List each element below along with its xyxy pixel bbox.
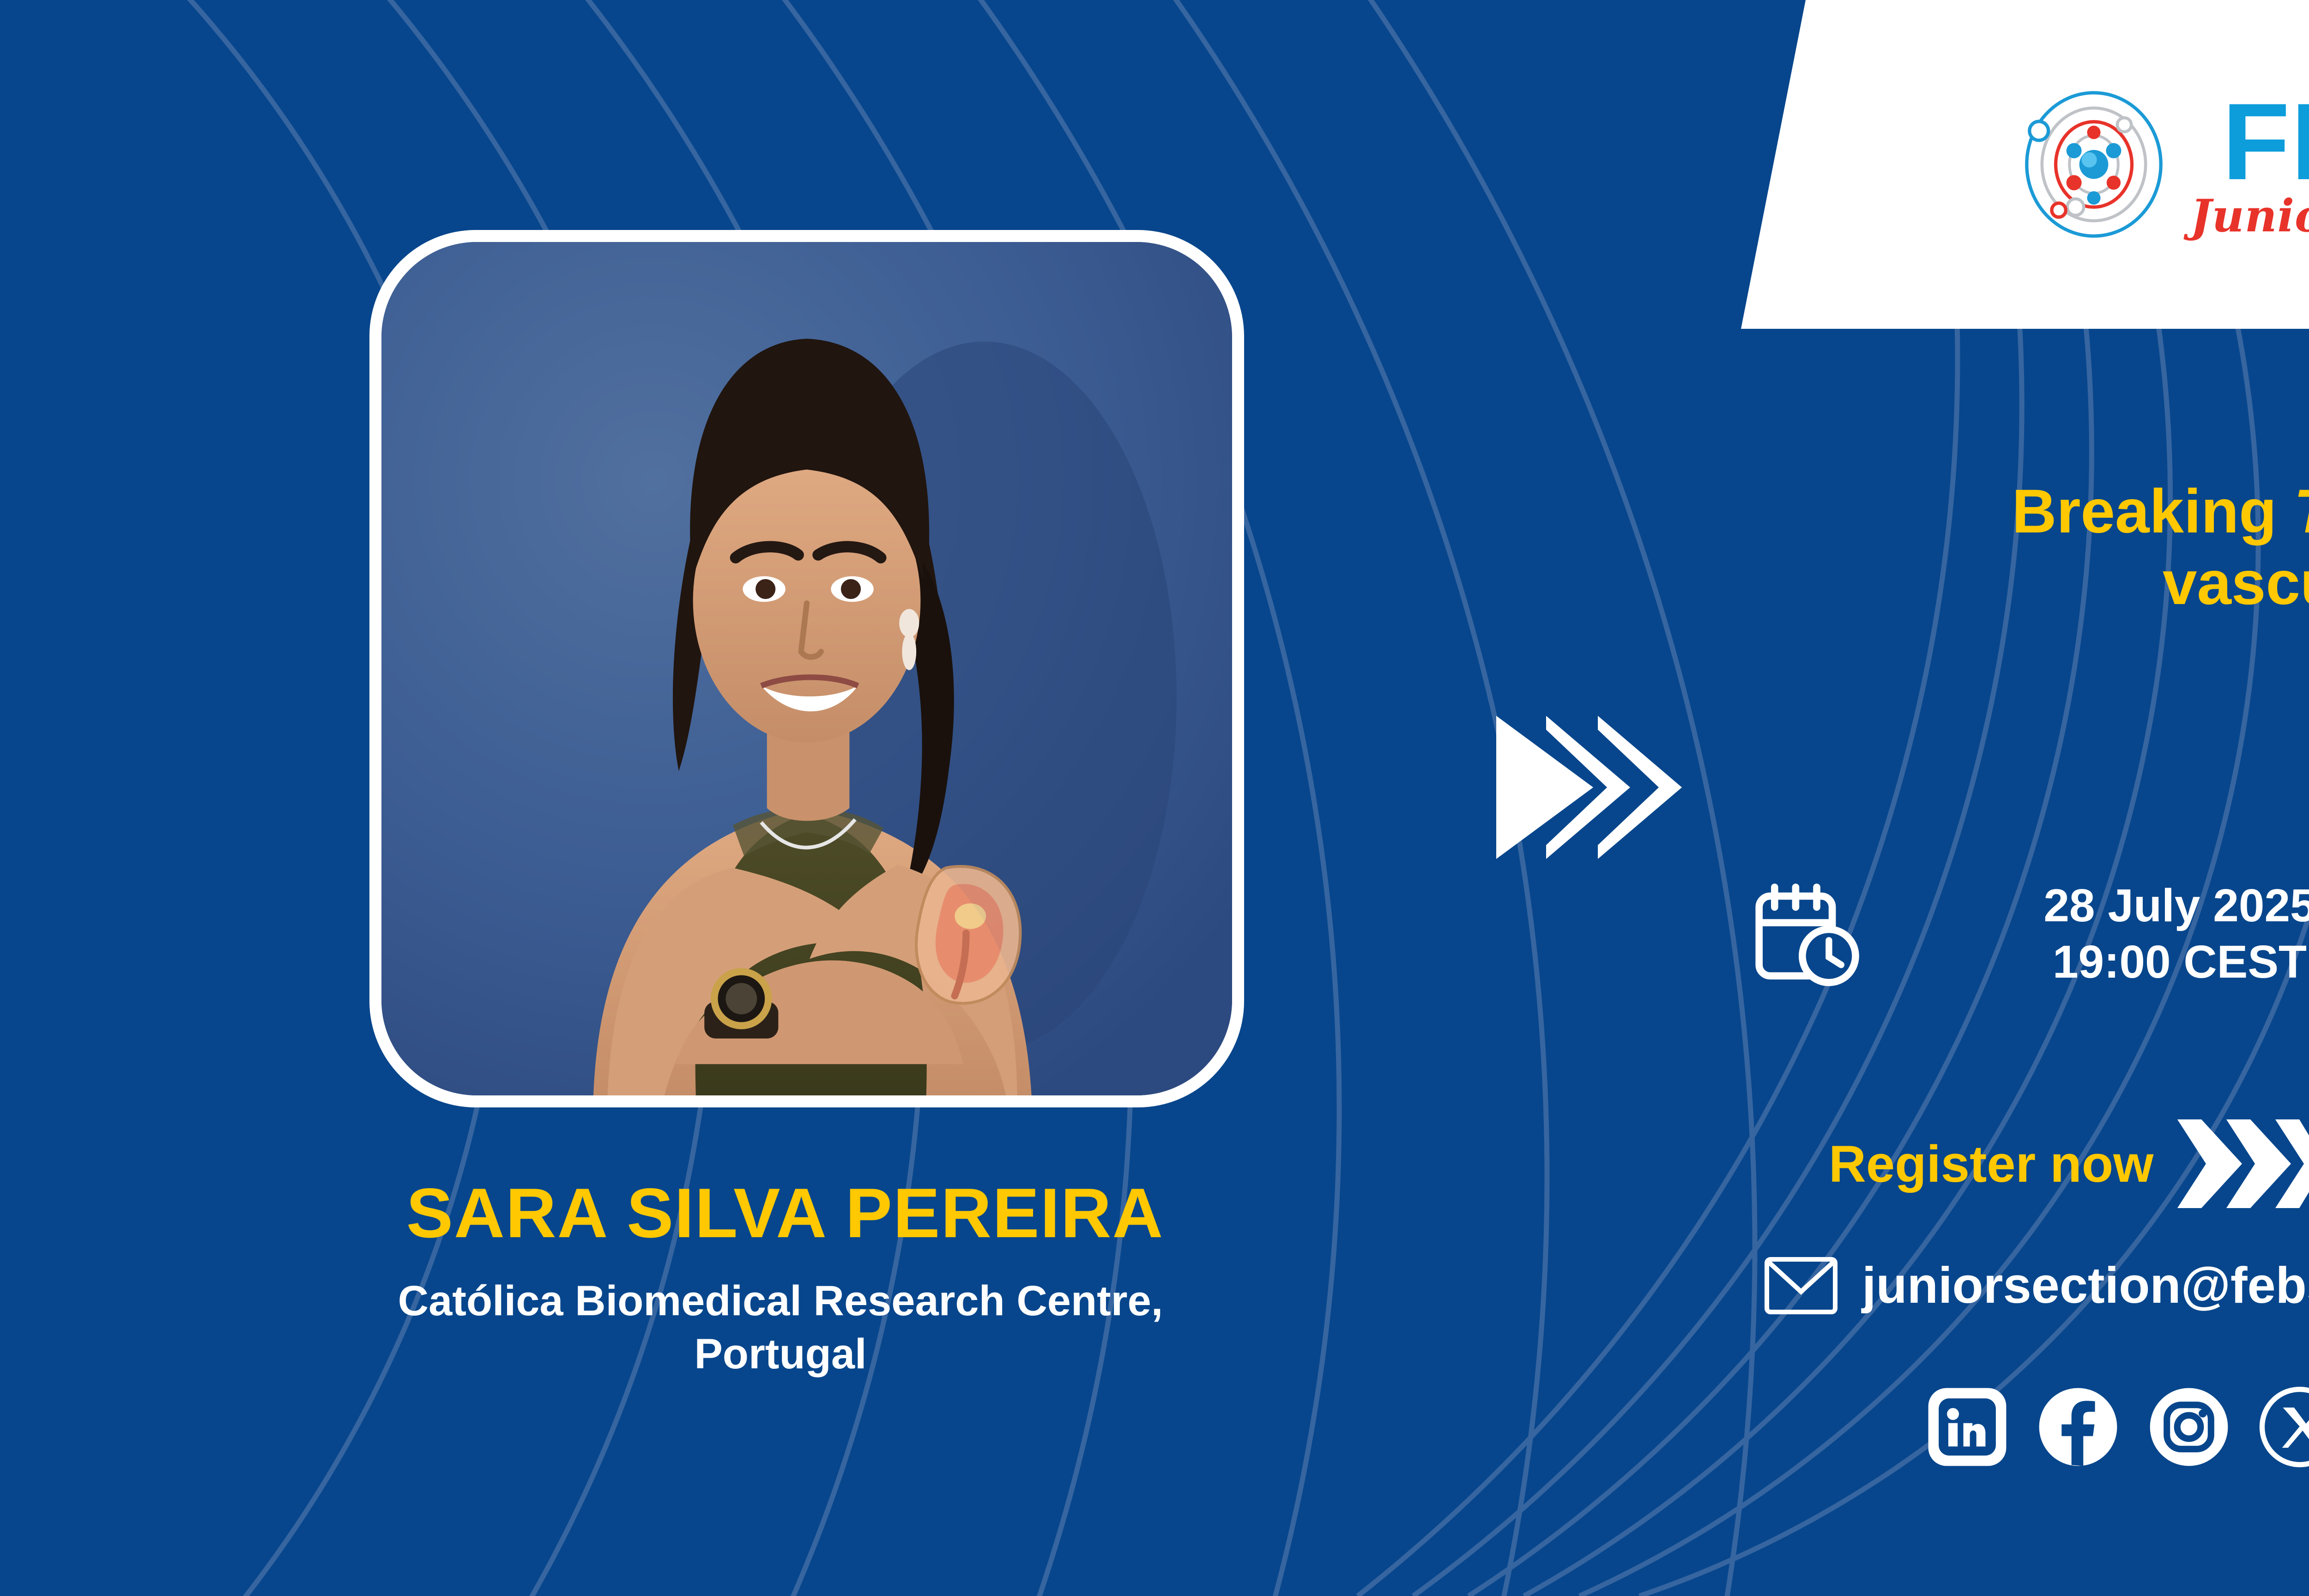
facebook-icon[interactable]: [2037, 1385, 2120, 1469]
event-datetime: 28 July 2025 19:00 CEST: [1750, 877, 2309, 990]
event-date: 28 July 2025: [1889, 877, 2309, 934]
social-links[interactable]: [1926, 1385, 2309, 1469]
talk-title: Breaking Trypanosoma vascular grip: [1764, 476, 2309, 619]
atom-orbit-icon: [2018, 88, 2170, 241]
envelope-icon: [1764, 1257, 1838, 1315]
calendar-clock-icon: [1750, 878, 1861, 989]
speaker-affiliation: Católica Biomedical Research Centre, Por…: [120, 1275, 1441, 1381]
contact-email[interactable]: juniorsection@febs.org: [1862, 1256, 2309, 1315]
febs-logo: FEBS Junior Section: [2018, 88, 2309, 241]
portrait-illustration: [381, 242, 1232, 1095]
title-italic-species: Trypanosoma: [2294, 477, 2309, 546]
instagram-icon[interactable]: [2147, 1385, 2230, 1469]
x-twitter-icon[interactable]: [2258, 1385, 2309, 1469]
triple-play-arrow-icon: [1492, 711, 1686, 864]
speaker-photo: [381, 242, 1232, 1095]
register-cta[interactable]: Register now: [1829, 1118, 2309, 1210]
title-part-1: Breaking: [2012, 477, 2294, 546]
event-time: 19:00 CEST: [1889, 934, 2309, 990]
triple-chevron-right-icon[interactable]: [2176, 1118, 2309, 1210]
title-part-2: vascular grip: [2163, 549, 2309, 617]
affiliation-line-1: Católica Biomedical Research Centre,: [398, 1277, 1163, 1324]
register-label[interactable]: Register now: [1829, 1134, 2153, 1194]
contact-email-row[interactable]: juniorsection@febs.org: [1764, 1256, 2309, 1315]
speaker-name: SARA SILVA PEREIRA: [0, 1173, 1570, 1254]
webinar-poster: FEBS Junior Section SPB: [0, 0, 2309, 1596]
linkedin-icon[interactable]: [1926, 1385, 2009, 1469]
affiliation-line-2: Portugal: [694, 1330, 866, 1378]
logo-banner: FEBS Junior Section SPB: [1741, 0, 2309, 329]
febs-wordmark: FEBS: [2222, 92, 2309, 192]
speaker-photo-frame: [369, 230, 1244, 1107]
